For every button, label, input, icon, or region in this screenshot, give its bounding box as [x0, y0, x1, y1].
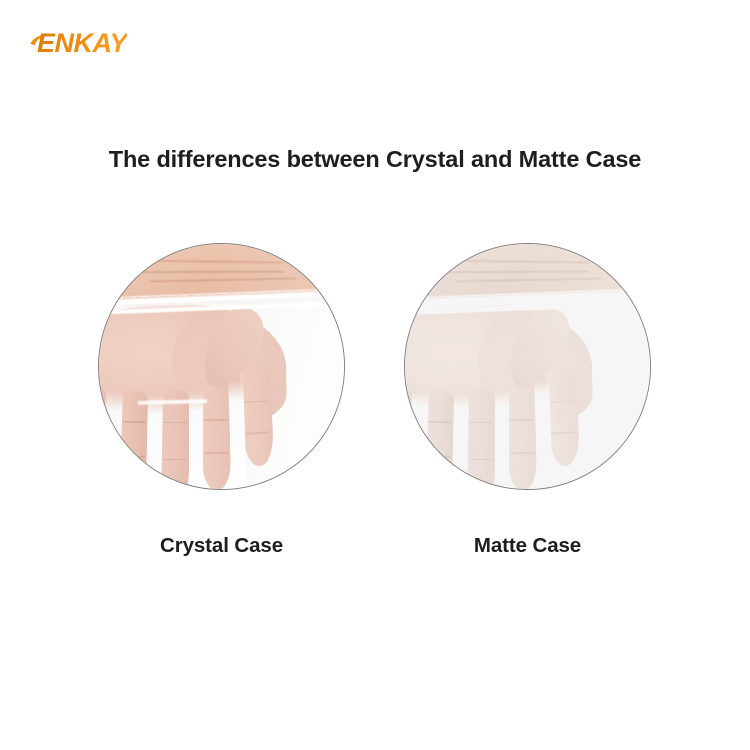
comparison-item-crystal	[98, 243, 345, 490]
crystal-scene	[98, 243, 345, 490]
page-title: The differences between Crystal and Matt…	[0, 146, 750, 173]
brand-logo: ENKAY	[30, 28, 127, 58]
caption-crystal-case: Crystal Case	[98, 534, 345, 558]
brand-name: ENKAY	[37, 30, 127, 57]
matte-scene	[404, 243, 651, 490]
comparison-item-matte	[404, 243, 651, 490]
caption-matte-case: Matte Case	[404, 534, 651, 558]
finger	[119, 391, 148, 490]
crystal-case-photo	[98, 243, 345, 490]
matte-case-photo	[404, 243, 651, 490]
finger	[467, 389, 495, 490]
comparison-row	[0, 243, 750, 493]
finger	[507, 386, 537, 490]
product-comparison-infographic: ENKAY The differences between Crystal an…	[0, 0, 750, 750]
finger	[425, 391, 454, 490]
